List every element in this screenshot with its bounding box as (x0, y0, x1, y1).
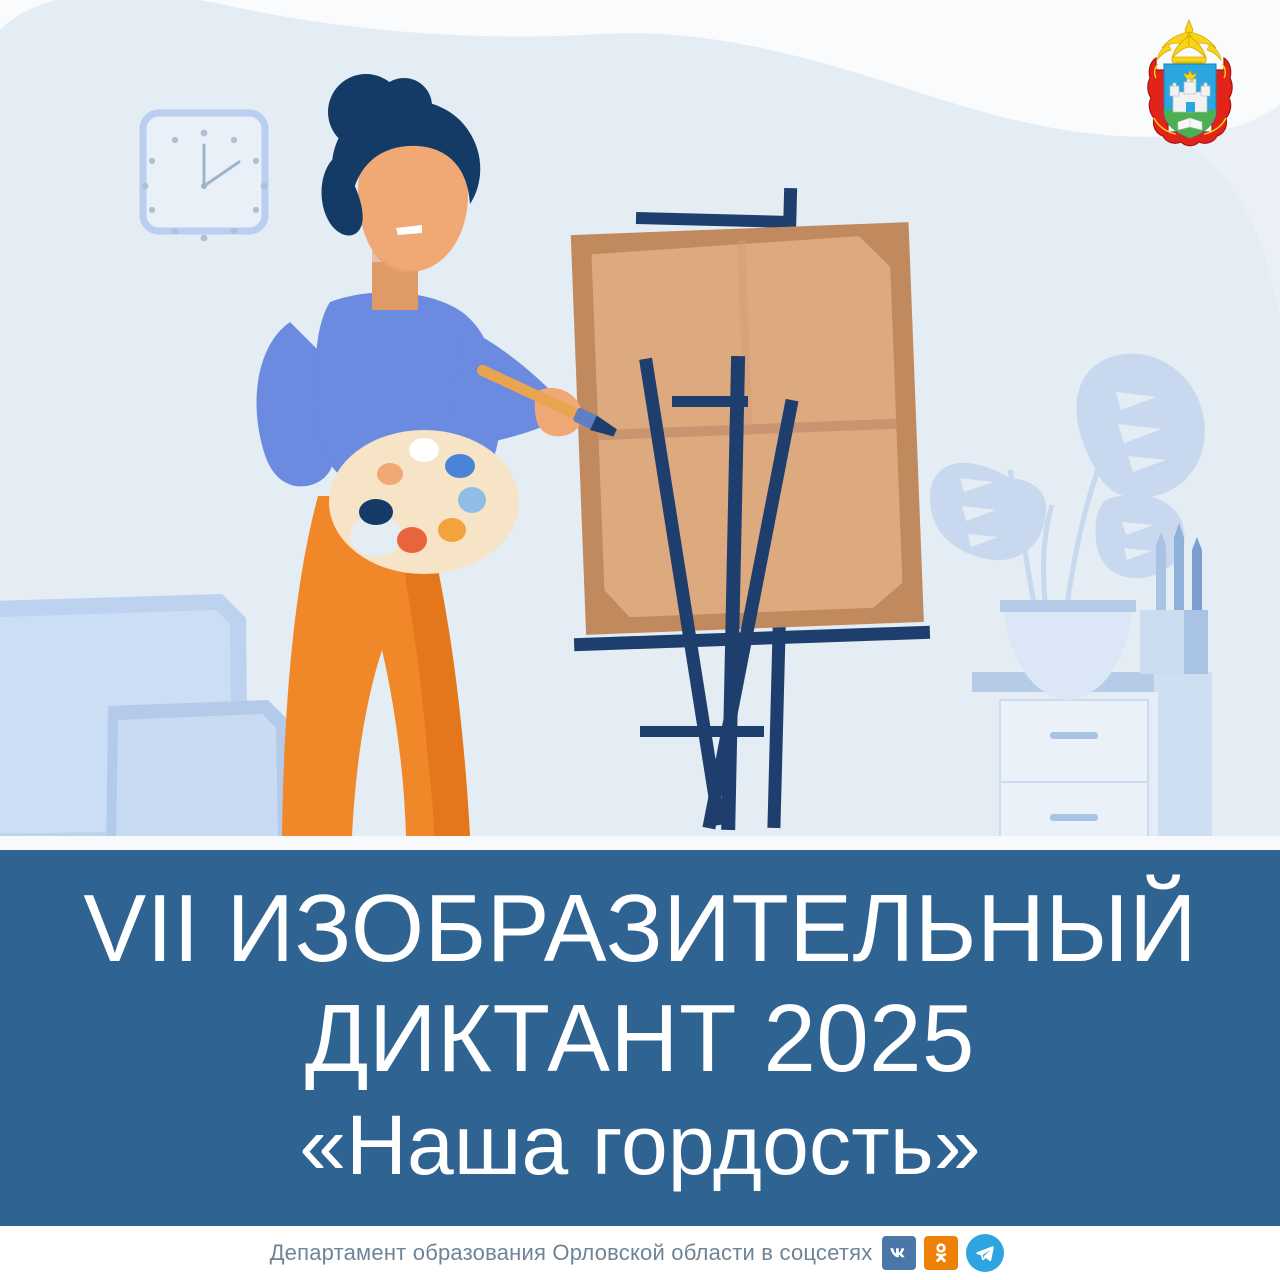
shield-icon (1164, 64, 1216, 138)
cabinet (972, 672, 1212, 860)
cabinet-side (1154, 672, 1212, 860)
title-line-2: ДИКТАНТ 2025 (305, 991, 975, 1087)
artist-palette (329, 430, 519, 574)
planter-rim (1000, 600, 1136, 612)
easel-canvas (571, 222, 924, 635)
odnoklassniki-icon[interactable] (924, 1236, 958, 1270)
telegram-icon[interactable] (966, 1234, 1004, 1272)
title-line-1: VII ИЗОБРАЗИТЕЛЬНЫЙ (83, 881, 1197, 977)
title-line-3: «Наша гордость» (299, 1103, 981, 1187)
cabinet-handle-top (1050, 732, 1098, 739)
oryol-oblast-coat-of-arms-icon (1128, 14, 1250, 164)
illustration-scene (0, 0, 1280, 860)
fortress-icon (1170, 79, 1210, 112)
crown-icon (1157, 20, 1221, 66)
title-banner: VII ИЗОБРАЗИТЕЛЬНЫЙ ДИКТАНТ 2025 «Наша г… (0, 850, 1280, 1226)
footer-bar: Департамент образования Орловской област… (0, 1226, 1280, 1280)
easel-crossbar-upper (672, 396, 748, 407)
vk-icon[interactable] (882, 1236, 916, 1270)
wall-clock (142, 113, 268, 241)
footer-text: Департамент образования Орловской област… (270, 1240, 873, 1266)
poster-root: VII ИЗОБРАЗИТЕЛЬНЫЙ ДИКТАНТ 2025 «Наша г… (0, 0, 1280, 1280)
floor-highlight (0, 836, 1280, 850)
social-links (882, 1234, 1004, 1272)
easel-crossbar-lower (640, 726, 764, 737)
clock-center (201, 183, 207, 189)
cabinet-handle-bottom (1050, 814, 1098, 821)
holder-shadow (1184, 610, 1208, 674)
